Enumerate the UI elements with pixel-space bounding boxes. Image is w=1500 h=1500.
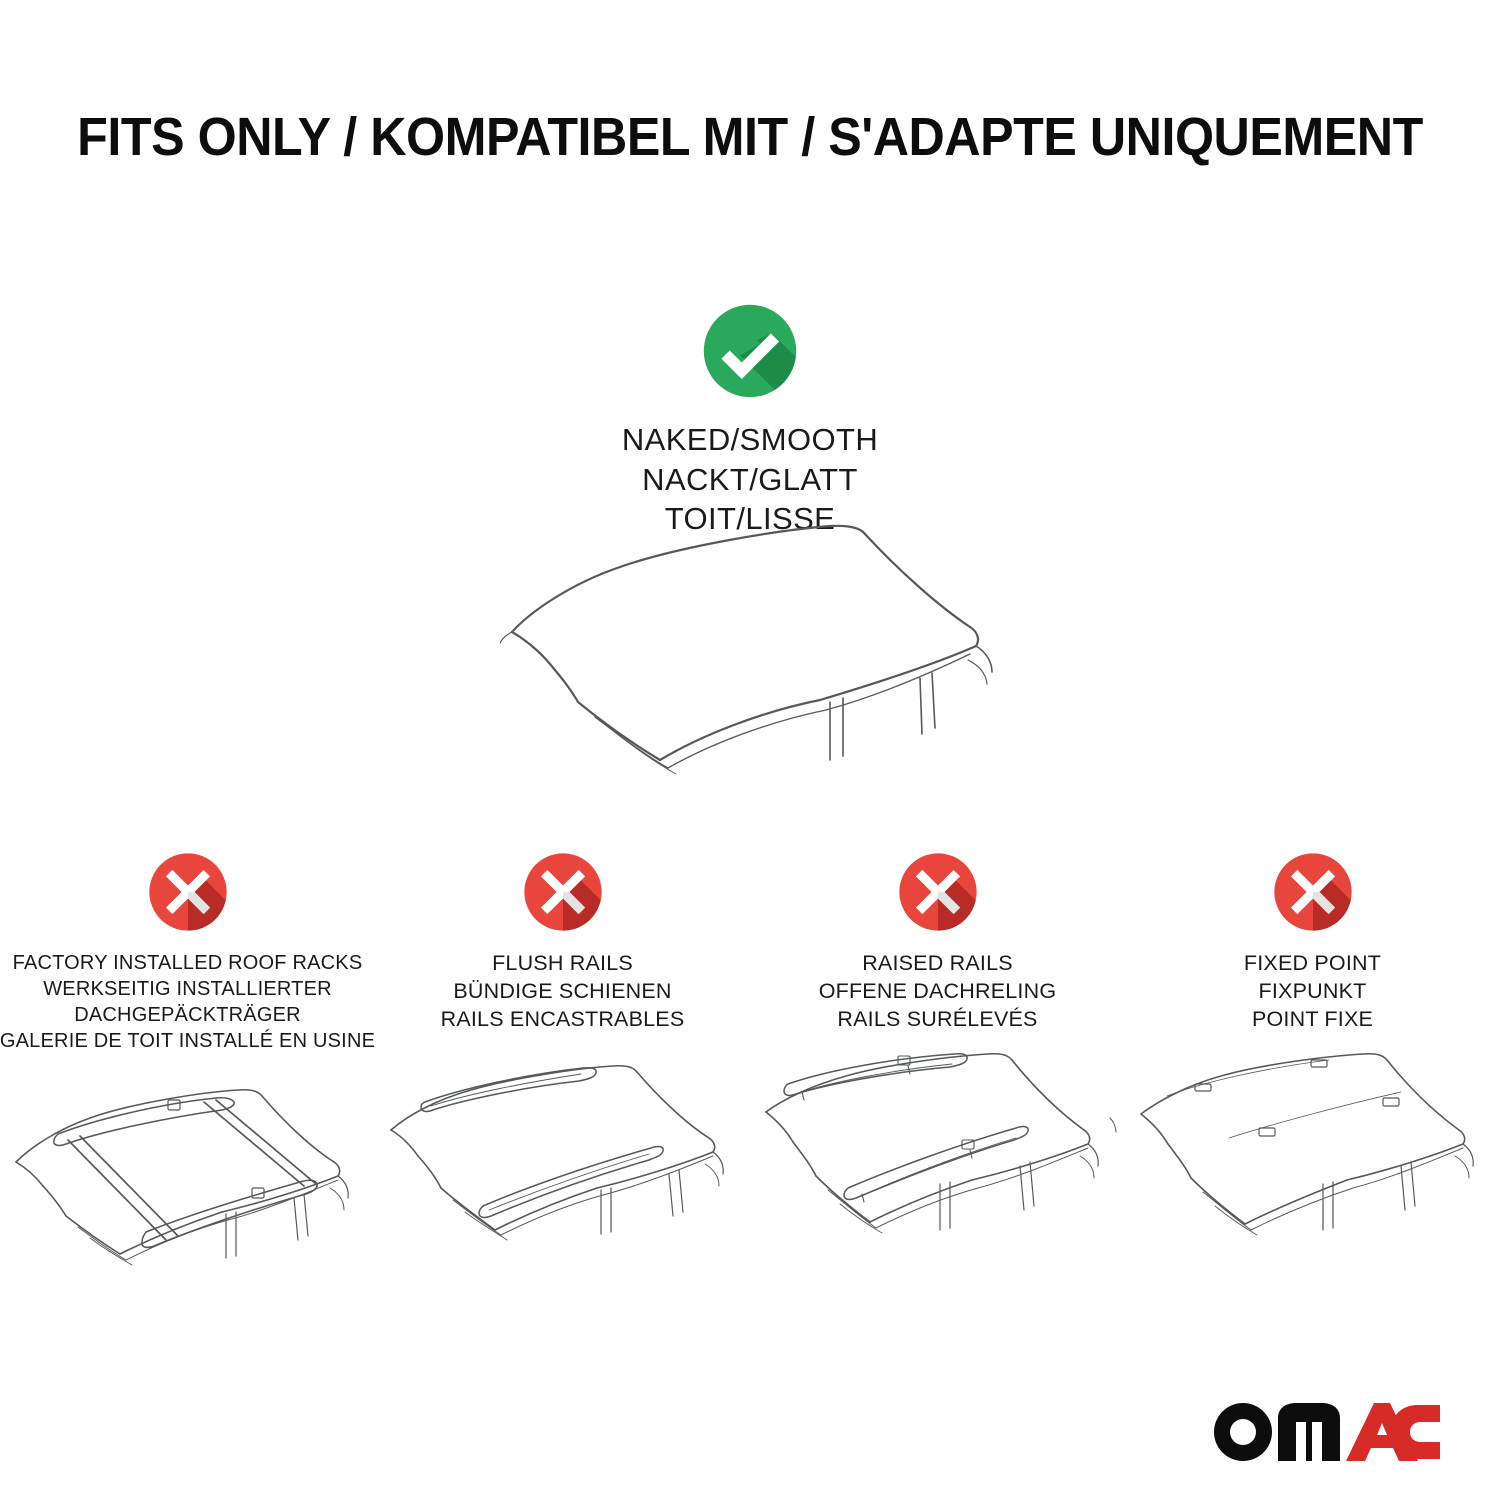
car-roof-naked-smooth-illustration (500, 512, 1020, 812)
caption-line-en: FACTORY INSTALLED ROOF RACKS (0, 950, 375, 976)
incompatible-columns: FACTORY INSTALLED ROOF RACKS WERKSEITIG … (0, 846, 1500, 1272)
incompatible-column-fixed-point: FIXED POINT FIXPUNKT POINT FIXE (1125, 846, 1500, 1272)
incompatible-column-flush-rails: FLUSH RAILS BÜNDIGE SCHIENEN RAILS ENCAS… (375, 846, 750, 1272)
caption-line-de-1: FIXPUNKT (1244, 978, 1381, 1006)
caption-line-en: RAISED RAILS (819, 950, 1057, 978)
caption-line-fr: RAILS SURÉLEVÉS (819, 1006, 1057, 1034)
car-roof-factory-rack-illustration (8, 1072, 368, 1272)
incompatible-column-factory-rack: FACTORY INSTALLED ROOF RACKS WERKSEITIG … (0, 846, 375, 1272)
caption-line-de: NACKT/GLATT (622, 460, 878, 500)
caption-raised-rails: RAISED RAILS OFFENE DACHRELING RAILS SUR… (819, 950, 1057, 1034)
caption-line-fr: GALERIE DE TOIT INSTALLÉ EN USINE (0, 1028, 375, 1054)
logo-letter-c (1391, 1405, 1440, 1459)
check-circle-icon (695, 296, 805, 406)
cross-circle-icon (517, 846, 609, 938)
caption-line-de-1: OFFENE DACHRELING (819, 978, 1057, 1006)
cross-circle-icon (142, 846, 234, 938)
logo-letter-m (1278, 1403, 1340, 1461)
caption-line-en: FLUSH RAILS (441, 950, 685, 978)
caption-flush-rails: FLUSH RAILS BÜNDIGE SCHIENEN RAILS ENCAS… (441, 950, 685, 1034)
caption-line-de-2: DACHGEPÄCKTRÄGER (0, 1002, 375, 1028)
omac-logo (1210, 1392, 1440, 1466)
car-roof-raised-rails-illustration (758, 1052, 1118, 1252)
caption-line-en: NAKED/SMOOTH (622, 420, 878, 460)
incompatible-column-raised-rails: RAISED RAILS OFFENE DACHRELING RAILS SUR… (750, 846, 1125, 1272)
caption-line-fr: RAILS ENCASTRABLES (441, 1006, 685, 1034)
caption-line-fr: POINT FIXE (1244, 1006, 1381, 1034)
compatible-block: NAKED/SMOOTH NACKT/GLATT TOIT/LISSE (0, 296, 1500, 539)
car-roof-fixed-point-illustration (1133, 1052, 1493, 1252)
caption-fixed-point: FIXED POINT FIXPUNKT POINT FIXE (1244, 950, 1381, 1034)
logo-letter-o (1214, 1403, 1272, 1461)
caption-line-de-1: BÜNDIGE SCHIENEN (441, 978, 685, 1006)
cross-circle-icon (1267, 846, 1359, 938)
caption-line-de-1: WERKSEITIG INSTALLIERTER (0, 976, 375, 1002)
caption-line-en: FIXED POINT (1244, 950, 1381, 978)
car-roof-flush-rails-illustration (383, 1052, 743, 1252)
cross-circle-icon (892, 846, 984, 938)
caption-factory-rack: FACTORY INSTALLED ROOF RACKS WERKSEITIG … (0, 950, 375, 1054)
page-title: FITS ONLY / KOMPATIBEL MIT / S'ADAPTE UN… (53, 106, 1448, 168)
